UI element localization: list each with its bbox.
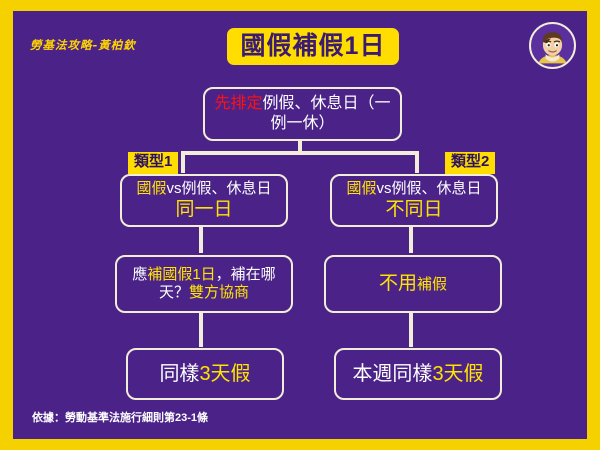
slide-canvas: 勞基法攻略-黃柏欽 國假補假1日 xyxy=(0,0,600,450)
byline-label: 勞基法攻略-黃柏欽 xyxy=(30,37,136,53)
condition-type1-line-1: 國假vs例假、休息日 xyxy=(136,180,271,198)
condition-type2-line-1: 國假vs例假、休息日 xyxy=(346,180,481,198)
outcome-type2-text: 本週同樣3天假 xyxy=(352,362,483,386)
flow-box-root: 先排定例假、休息日（一 例一休） xyxy=(203,87,402,141)
connector-right-drop xyxy=(415,151,419,173)
flow-box-condition-type2: 國假vs例假、休息日 不同日 xyxy=(330,174,498,227)
connector-left-action-outcome xyxy=(199,311,203,347)
cartoon-man-avatar-icon xyxy=(531,24,574,67)
flow-box-action-type2: 不用補假 xyxy=(324,255,502,313)
avatar xyxy=(529,22,576,69)
action-type1-line-1: 應補國假1日，補在哪 xyxy=(132,266,275,284)
flow-box-outcome-type2: 本週同樣3天假 xyxy=(334,348,502,400)
connector-right-action-outcome xyxy=(409,311,413,347)
connector-left-cond-action xyxy=(199,225,203,253)
root-line-1: 先排定例假、休息日（一 xyxy=(214,94,390,114)
flow-box-condition-type1: 國假vs例假、休息日 同一日 xyxy=(120,174,288,227)
condition-type1-result: 同一日 xyxy=(175,198,232,221)
root-line-2: 例一休） xyxy=(270,114,334,134)
slide-title-box: 國假補假1日 xyxy=(225,26,401,67)
flow-box-outcome-type1: 同樣3天假 xyxy=(126,348,284,400)
action-type1-line-2: 天？雙方協商 xyxy=(159,284,249,302)
connector-right-cond-action xyxy=(409,225,413,253)
connector-left-drop xyxy=(181,151,185,173)
condition-type2-result: 不同日 xyxy=(385,198,442,221)
footnote-source: 依據：勞動基準法施行細則第23-1條 xyxy=(32,409,208,425)
flow-box-action-type1: 應補國假1日，補在哪 天？雙方協商 xyxy=(115,255,293,313)
slide-inner-panel: 勞基法攻略-黃柏欽 國假補假1日 xyxy=(13,11,587,439)
action-type2-text: 不用補假 xyxy=(379,272,447,295)
type-tag-2: 類型2 xyxy=(445,152,495,174)
connector-split-horizontal xyxy=(181,151,419,155)
type-tag-1: 類型1 xyxy=(128,152,178,174)
slide-title-text: 國假補假1日 xyxy=(241,34,386,59)
outcome-type1-text: 同樣3天假 xyxy=(159,362,250,386)
